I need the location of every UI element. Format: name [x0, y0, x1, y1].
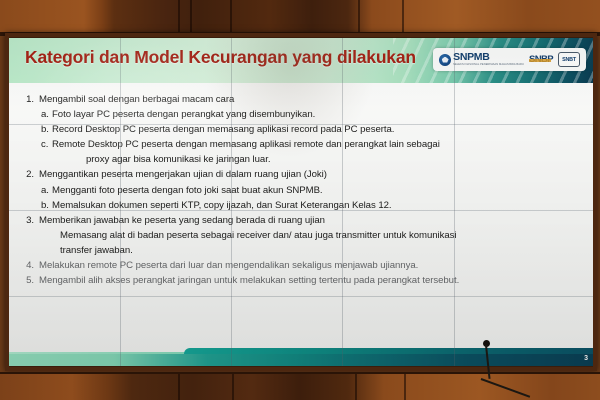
list-item-marker: 3. — [23, 213, 39, 228]
slide-list-item: 3.Memberikan jawaban ke peserta yang sed… — [23, 213, 583, 228]
videowall-screen[interactable]: Kategori dan Model Kecurangan yang dilak… — [9, 38, 593, 366]
slide-page-number: 3 — [584, 355, 588, 362]
list-item-text: proxy agar bisa komunikasi ke jaringan l… — [86, 152, 583, 167]
slide-footer-wave — [9, 340, 593, 366]
list-item-text: Menggantikan peserta mengerjakan ujian d… — [39, 167, 583, 182]
list-item-marker — [70, 152, 86, 167]
slide-list-item: c.Remote Desktop PC peserta dengan memas… — [23, 137, 583, 152]
conference-room-scene: Kategori dan Model Kecurangan yang dilak… — [0, 0, 600, 400]
list-item-marker: b. — [41, 198, 52, 213]
list-item-text: Mengambil soal dengan berbagai macam car… — [39, 92, 583, 107]
wood-wall-upper — [0, 0, 600, 36]
logo-bar: SNPMB SELEKSI NASIONAL PENERIMAAN MAHASI… — [433, 48, 586, 71]
list-item-text: Record Desktop PC peserta dengan memasan… — [52, 122, 583, 137]
list-item-text: Foto layar PC peserta dengan perangkat y… — [52, 107, 583, 122]
list-item-marker: 2. — [23, 167, 39, 182]
slide-list-item: 2.Menggantikan peserta mengerjakan ujian… — [23, 167, 583, 182]
list-item-marker: c. — [41, 137, 52, 152]
slide-header-banner: Kategori dan Model Kecurangan yang dilak… — [9, 38, 593, 83]
slide-content-list: 1.Mengambil soal dengan berbagai macam c… — [9, 83, 593, 340]
list-item-marker: a. — [41, 107, 52, 122]
slide-list-item: b.Memalsukan dokumen seperti KTP, copy i… — [23, 198, 583, 213]
presentation-slide: Kategori dan Model Kecurangan yang dilak… — [9, 38, 593, 366]
slide-list-item: proxy agar bisa komunikasi ke jaringan l… — [23, 152, 583, 167]
list-item-text: transfer jawaban. — [60, 243, 583, 258]
list-item-text: Memberikan jawaban ke peserta yang sedan… — [39, 213, 583, 228]
snbt-wordmark: SNBT — [562, 57, 576, 63]
slide-list-item: 4.Melakukan remote PC peserta dari luar … — [23, 258, 583, 273]
wood-wall-lower — [0, 372, 600, 400]
slide-list-item: a.Foto layar PC peserta dengan perangkat… — [23, 107, 583, 122]
list-item-text: Memalsukan dokumen seperti KTP, copy ija… — [52, 198, 583, 213]
list-item-marker: 1. — [23, 92, 39, 107]
list-item-text: Remote Desktop PC peserta dengan memasan… — [52, 137, 583, 152]
list-item-marker: a. — [41, 183, 52, 198]
snpmb-subtitle: SELEKSI NASIONAL PENERIMAAN MAHASISWA BA… — [453, 64, 524, 67]
list-item-text: Mengganti foto peserta dengan foto joki … — [52, 183, 583, 198]
list-item-text: Melakukan remote PC peserta dari luar da… — [39, 258, 583, 273]
list-item-marker: 5. — [23, 273, 39, 288]
slide-list-item: transfer jawaban. — [23, 243, 583, 258]
snbp-logo: SNBP — [529, 55, 553, 65]
snpmb-wordmark: SNPMB — [453, 52, 524, 63]
slide-list-item: 1.Mengambil soal dengan berbagai macam c… — [23, 92, 583, 107]
snpmb-logo: SNPMB SELEKSI NASIONAL PENERIMAAN MAHASI… — [439, 52, 524, 66]
garuda-emblem-icon — [439, 54, 451, 66]
slide-title: Kategori dan Model Kecurangan yang dilak… — [25, 47, 416, 68]
slide-list-item: a.Mengganti foto peserta dengan foto jok… — [23, 183, 583, 198]
list-item-text: Mengambil alih akses perangkat jaringan … — [39, 273, 583, 288]
list-item-marker — [44, 228, 60, 243]
slide-list-item: Memasang alat di badan peserta sebagai r… — [23, 228, 583, 243]
snbt-logo: SNBT — [558, 52, 580, 67]
list-item-marker — [44, 243, 60, 258]
list-item-marker: 4. — [23, 258, 39, 273]
slide-list-item: 5.Mengambil alih akses perangkat jaringa… — [23, 273, 583, 288]
list-item-text: Memasang alat di badan peserta sebagai r… — [60, 228, 583, 243]
slide-list-item: b.Record Desktop PC peserta dengan memas… — [23, 122, 583, 137]
list-item-marker: b. — [41, 122, 52, 137]
